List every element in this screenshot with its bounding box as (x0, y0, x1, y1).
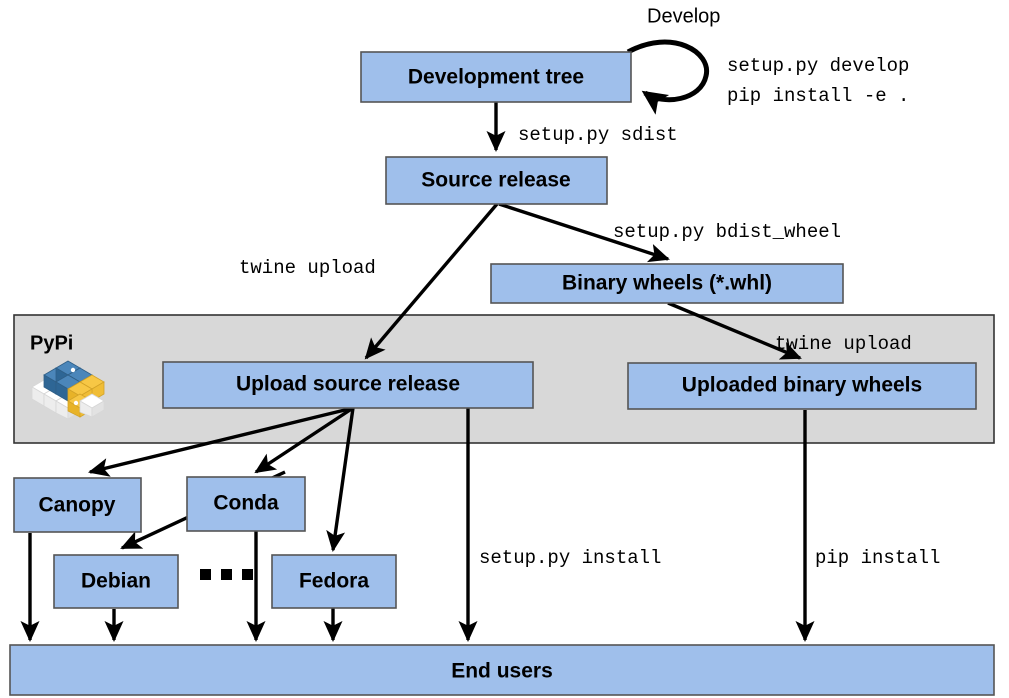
node-end-users-label: End users (451, 660, 553, 683)
node-canopy[interactable]: Canopy (14, 478, 141, 532)
node-uploaded-binary-wheels[interactable]: Uploaded binary wheels (628, 363, 976, 409)
node-conda-label: Conda (213, 492, 279, 515)
node-end-users[interactable]: End users (10, 645, 994, 695)
edge-label-develop-cmd-1: setup.py develop (727, 55, 909, 77)
node-development-tree-label: Development tree (408, 66, 584, 89)
edge-label-pip-install: pip install (815, 547, 940, 569)
edge-develop-loop (628, 42, 707, 100)
node-uploaded-binary-wheels-label: Uploaded binary wheels (682, 374, 922, 397)
edge-label-setup-py-install: setup.py install (479, 547, 661, 569)
packaging-flow-diagram: PyPi (0, 0, 1009, 698)
node-upload-source-release-label: Upload source release (236, 373, 460, 396)
edge-label-sdist: setup.py sdist (518, 124, 678, 146)
node-development-tree[interactable]: Development tree (361, 52, 631, 102)
edge-label-twine-upload-source: twine upload (239, 257, 376, 279)
diagram-canvas: PyPi (0, 0, 1009, 698)
edge-label-develop: Develop (647, 5, 720, 27)
node-upload-source-release[interactable]: Upload source release (163, 362, 533, 408)
node-source-release[interactable]: Source release (386, 157, 607, 204)
pypi-group-label: PyPi (30, 332, 73, 354)
ellipsis-dots (200, 569, 253, 580)
node-source-release-label: Source release (421, 169, 570, 192)
node-debian[interactable]: Debian (54, 555, 178, 608)
node-fedora[interactable]: Fedora (272, 555, 396, 608)
node-conda[interactable]: Conda (187, 477, 305, 531)
node-binary-wheels-label: Binary wheels (*.whl) (562, 272, 772, 295)
node-debian-label: Debian (81, 570, 151, 593)
edge-label-develop-cmd-2: pip install -e . (727, 85, 909, 107)
node-binary-wheels[interactable]: Binary wheels (*.whl) (491, 264, 843, 303)
edge-label-twine-upload-wheels: twine upload (775, 333, 912, 355)
edge-label-bdist-wheel: setup.py bdist_wheel (613, 221, 841, 243)
node-fedora-label: Fedora (299, 570, 369, 593)
node-canopy-label: Canopy (38, 494, 115, 517)
